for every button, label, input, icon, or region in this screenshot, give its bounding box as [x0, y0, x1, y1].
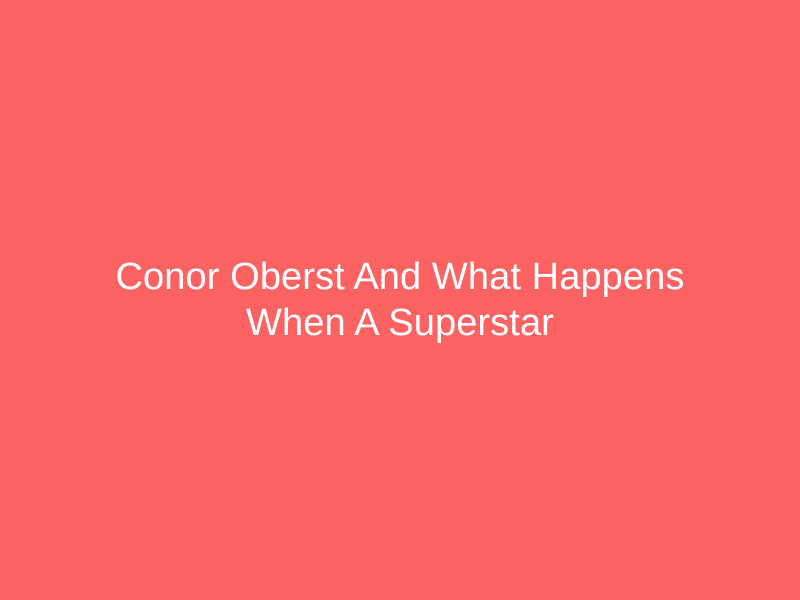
page-root: Conor Oberst And What Happens When A Sup…	[0, 0, 800, 600]
title-block: Conor Oberst And What Happens When A Sup…	[90, 254, 710, 346]
page-title: Conor Oberst And What Happens When A Sup…	[90, 254, 710, 346]
